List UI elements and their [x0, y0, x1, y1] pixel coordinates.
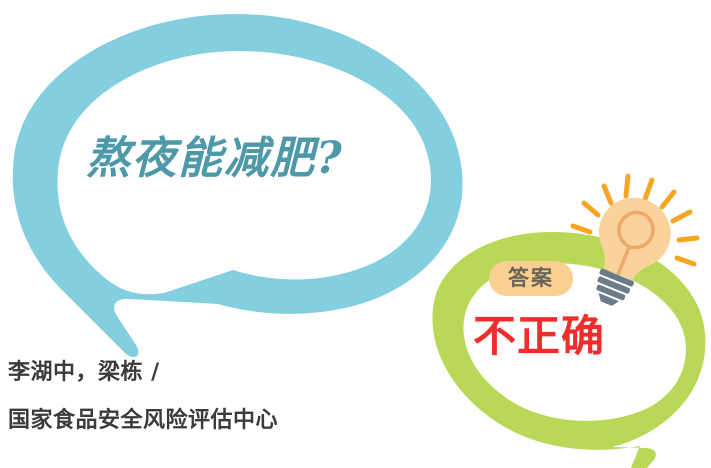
attribution-organization: 国家食品安全风险评估中心: [8, 410, 408, 432]
attribution-block: 李湖中，梁栋 / 国家食品安全风险评估中心: [8, 362, 408, 432]
attribution-authors: 李湖中，梁栋 /: [8, 362, 408, 384]
poster-canvas: 熬夜能减肥? 答案 不正确 李湖中，梁栋 / 国家食品安全风险评估中心: [0, 0, 711, 468]
answer-badge-label: 答案: [508, 268, 554, 289]
question-title: 熬夜能减肥?: [86, 128, 406, 190]
verdict-text: 不正确: [473, 312, 643, 362]
answer-badge: 答案: [489, 261, 573, 296]
